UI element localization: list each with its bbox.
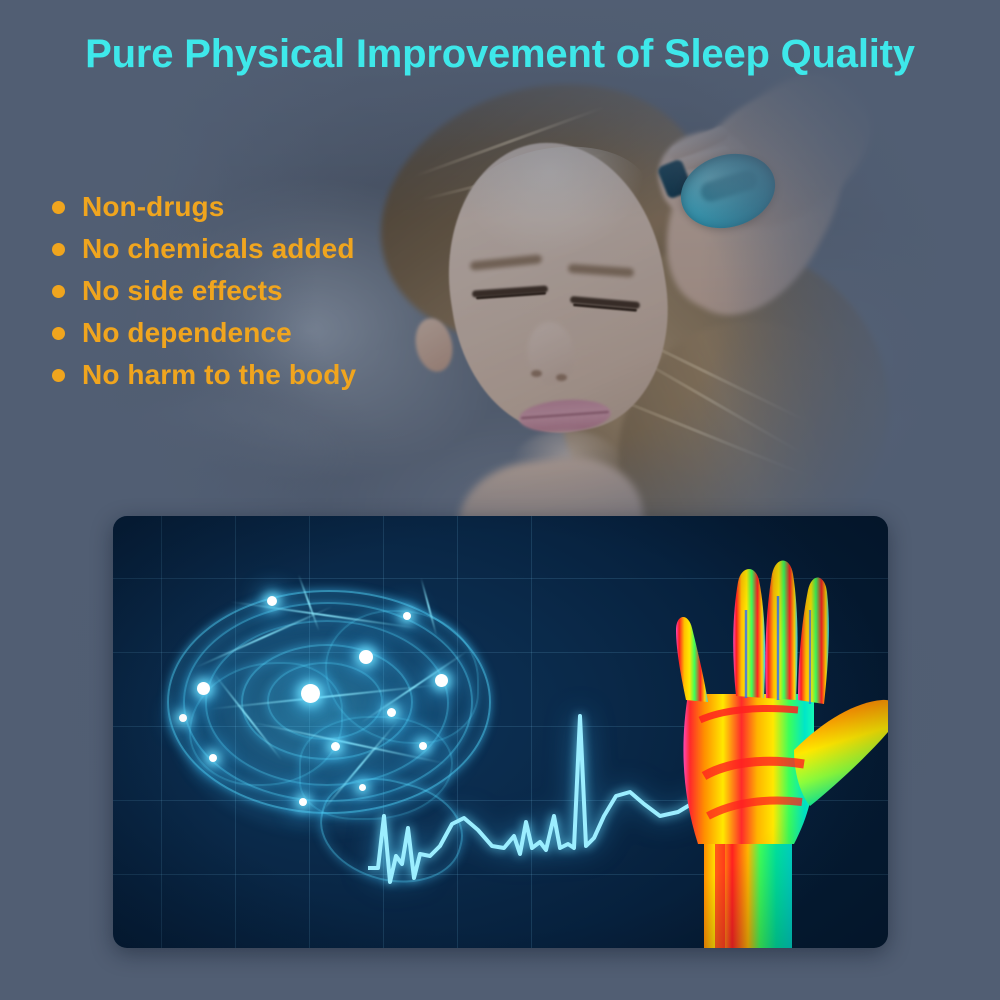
neural-node bbox=[197, 682, 210, 695]
list-item: No harm to the body bbox=[52, 354, 356, 396]
bullet-dot-icon bbox=[52, 369, 65, 382]
thermal-hand-icon bbox=[618, 544, 888, 948]
neural-node bbox=[359, 650, 373, 664]
benefit-label: Non-drugs bbox=[82, 191, 224, 223]
list-item: No dependence bbox=[52, 312, 356, 354]
bullet-dot-icon bbox=[52, 243, 65, 256]
neural-node bbox=[301, 684, 320, 703]
benefit-label: No chemicals added bbox=[82, 233, 355, 265]
page-title: Pure Physical Improvement of Sleep Quali… bbox=[0, 32, 1000, 77]
neural-node bbox=[179, 714, 187, 722]
neural-node bbox=[403, 612, 411, 620]
bullet-dot-icon bbox=[52, 201, 65, 214]
neural-node bbox=[359, 784, 366, 791]
benefit-label: No dependence bbox=[82, 317, 292, 349]
finger-middle bbox=[765, 561, 797, 701]
neural-node bbox=[331, 742, 340, 751]
neural-node bbox=[435, 674, 448, 687]
bullet-dot-icon bbox=[52, 327, 65, 340]
diagram-panel bbox=[113, 516, 888, 948]
list-item: No chemicals added bbox=[52, 228, 356, 270]
neural-node bbox=[299, 798, 307, 806]
benefit-label: No harm to the body bbox=[82, 359, 356, 391]
list-item: Non-drugs bbox=[52, 186, 356, 228]
finger-little bbox=[676, 617, 708, 702]
benefit-label: No side effects bbox=[82, 275, 283, 307]
neural-node bbox=[209, 754, 217, 762]
promo-graphic: Pure Physical Improvement of Sleep Quali… bbox=[0, 0, 1000, 1000]
finger-index bbox=[733, 569, 765, 698]
neural-node bbox=[267, 596, 277, 606]
benefits-list: Non-drugs No chemicals added No side eff… bbox=[52, 186, 356, 396]
finger-ring bbox=[798, 577, 829, 704]
bullet-dot-icon bbox=[52, 285, 65, 298]
list-item: No side effects bbox=[52, 270, 356, 312]
